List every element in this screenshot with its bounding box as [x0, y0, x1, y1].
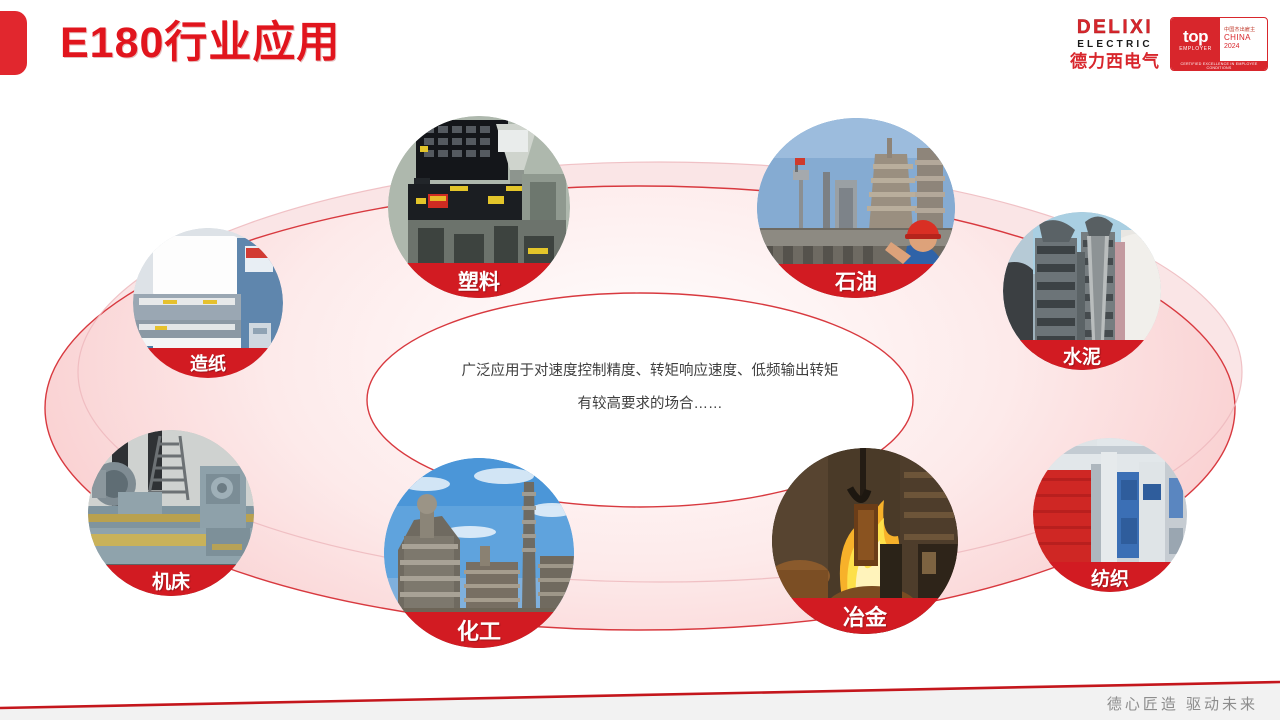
delixi-wordmark: DELIXI — [1077, 18, 1153, 37]
industry-label-text: 纺织 — [1091, 564, 1129, 591]
top-employer-employer-text: EMPLOYER — [1179, 47, 1212, 52]
delixi-logo: DELIXI ELECTRIC 德力西电气 — [1070, 18, 1160, 70]
industry-label-cement: 水泥 — [1003, 340, 1161, 370]
center-description-line-2: 有较高要求的场合…… — [390, 388, 910, 421]
top-employer-mark: top EMPLOYER — [1171, 18, 1220, 61]
industry-node-textile[interactable]: 纺织 — [1033, 438, 1187, 592]
industry-node-metallurgy[interactable]: 冶金 — [772, 448, 958, 634]
footer-slogan: 德心匠造 驱动未来 — [1107, 693, 1258, 714]
industry-label-papermaking: 造纸 — [133, 348, 283, 378]
top-employer-country: CHINA — [1224, 33, 1267, 43]
industry-label-text: 冶金 — [843, 600, 887, 632]
industry-label-plastics: 塑料 — [388, 263, 570, 298]
industry-node-chemical[interactable]: 化工 — [384, 458, 574, 648]
industry-node-papermaking[interactable]: 造纸 — [133, 228, 283, 378]
center-description: 广泛应用于对速度控制精度、转矩响应速度、低频输出转矩 有较高要求的场合…… — [390, 355, 910, 421]
top-employer-details: 中国杰出雇主 CHINA 2024 — [1220, 18, 1267, 61]
top-employer-footer-text: CERTIFIED EXCELLENCE IN EMPLOYEE CONDITI… — [1171, 61, 1267, 70]
header-accent-tab — [0, 11, 27, 75]
center-description-line-1: 广泛应用于对速度控制精度、转矩响应速度、低频输出转矩 — [390, 355, 910, 388]
industry-label-text: 塑料 — [458, 266, 500, 296]
industry-label-text: 石油 — [835, 266, 877, 296]
delixi-wordmark-cn: 德力西电气 — [1070, 53, 1160, 70]
industry-label-textile: 纺织 — [1033, 562, 1187, 592]
industry-label-text: 化工 — [457, 614, 501, 646]
industry-label-text: 造纸 — [190, 350, 226, 376]
top-employer-year: 2024 — [1224, 43, 1267, 52]
delixi-wordmark-sub: ELECTRIC — [1077, 40, 1153, 50]
industry-label-chemical: 化工 — [384, 612, 574, 648]
page-title: E180行业应用 — [60, 16, 340, 70]
industry-label-text: 机床 — [152, 567, 190, 594]
top-employer-top-text: top — [1183, 28, 1208, 45]
industry-label-machine-tool: 机床 — [88, 565, 254, 596]
industry-label-metallurgy: 冶金 — [772, 598, 958, 634]
footer-divider — [0, 660, 1280, 720]
industry-node-machine-tool[interactable]: 机床 — [88, 430, 254, 596]
slide-root: E180行业应用 DELIXI ELECTRIC 德力西电气 top EMPLO… — [0, 0, 1280, 720]
industry-node-cement[interactable]: 水泥 — [1003, 212, 1161, 370]
top-employer-badge: top EMPLOYER 中国杰出雇主 CHINA 2024 CERTIFIED… — [1170, 17, 1268, 71]
industry-label-text: 水泥 — [1063, 342, 1101, 369]
industry-node-petroleum[interactable]: 石油 — [757, 118, 955, 298]
industry-label-petroleum: 石油 — [757, 264, 955, 298]
industry-node-plastics[interactable]: 塑料 — [388, 116, 570, 298]
brand-logo-group: DELIXI ELECTRIC 德力西电气 top EMPLOYER 中国杰出雇… — [1070, 14, 1268, 74]
